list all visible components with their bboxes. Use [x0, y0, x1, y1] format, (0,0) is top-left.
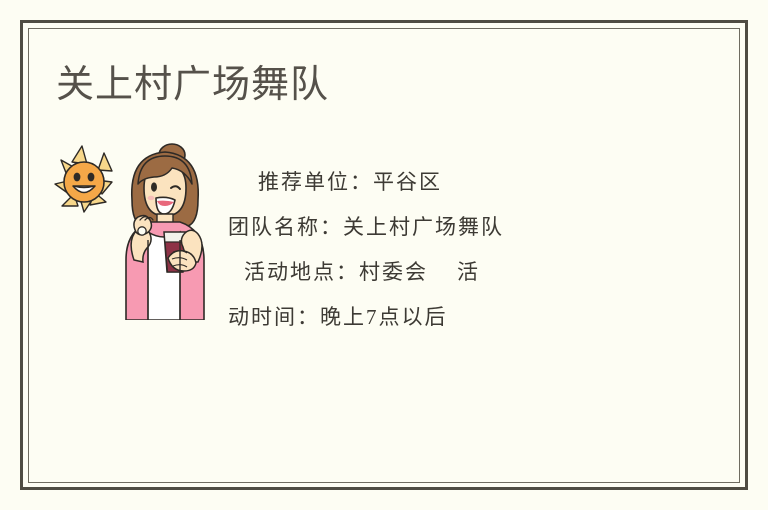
- woman-figure: [126, 144, 204, 320]
- info-line-team-name: 团队名称：关上村广场舞队: [228, 205, 608, 250]
- poster-card: 关上村广场舞队: [0, 0, 768, 510]
- info-line-activity-time: 动时间：晚上7点以后: [228, 295, 608, 340]
- info-line-activity-place: 活动地点：村委会 活: [228, 250, 608, 295]
- illustration-woman-with-drink-and-sun: [52, 140, 232, 320]
- team-info-block: 推荐单位：平谷区 团队名称：关上村广场舞队 活动地点：村委会 活 动时间：晚上7…: [228, 160, 608, 340]
- sun-icon: [55, 146, 112, 212]
- page-title: 关上村广场舞队: [56, 60, 329, 110]
- info-line-recommending-unit: 推荐单位：平谷区: [228, 160, 608, 205]
